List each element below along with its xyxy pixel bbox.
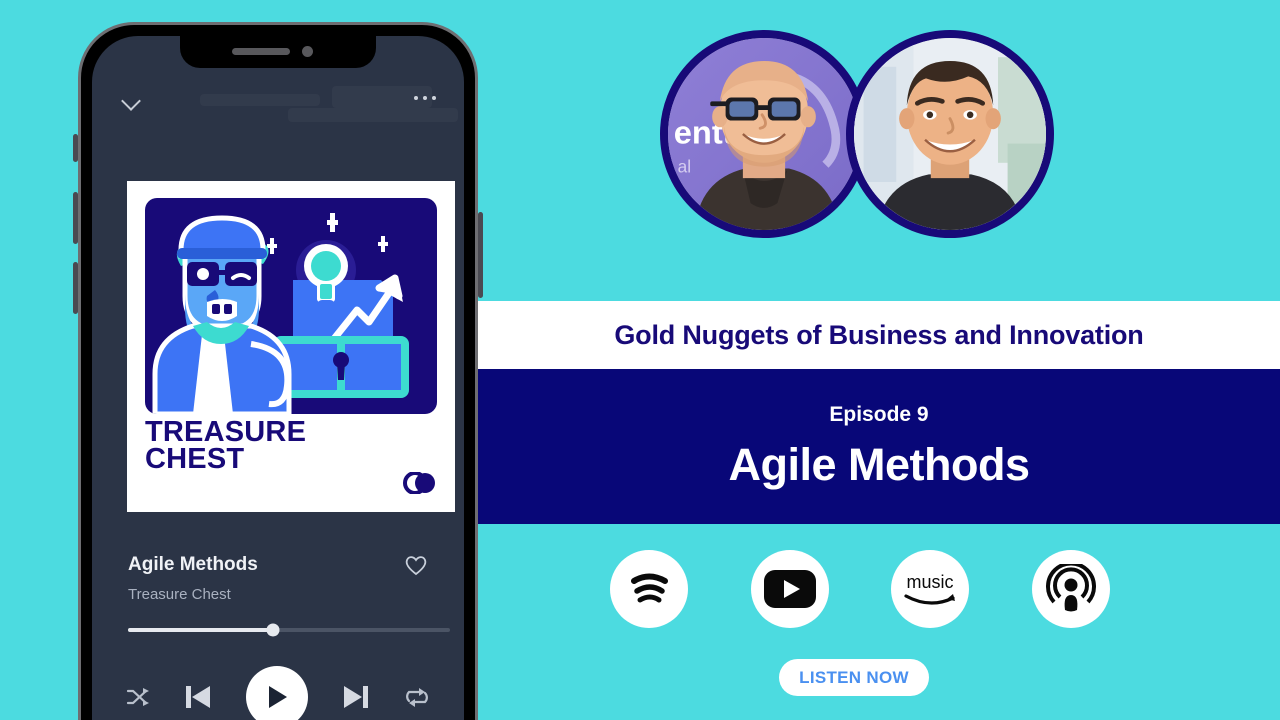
avatar bbox=[854, 38, 1046, 230]
progress-bar[interactable] bbox=[128, 628, 450, 632]
shuffle-icon[interactable] bbox=[126, 686, 150, 708]
episode-title: Agile Methods bbox=[728, 439, 1029, 491]
treasure-chest bbox=[273, 336, 409, 398]
podcast-episode-promo: TREASURE CHEST Agile Methods Treasure Ch… bbox=[0, 0, 1280, 720]
spotify-link[interactable] bbox=[610, 550, 688, 628]
phone-body: TREASURE CHEST Agile Methods Treasure Ch… bbox=[78, 22, 478, 720]
episode-number: Episode 9 bbox=[829, 403, 928, 427]
phone-screen: TREASURE CHEST Agile Methods Treasure Ch… bbox=[92, 36, 464, 720]
host-left-avatar: entt al bbox=[660, 30, 868, 238]
track-title: Agile Methods bbox=[128, 554, 258, 576]
spotify-icon bbox=[625, 565, 673, 613]
play-icon bbox=[265, 684, 289, 710]
track-subtitle: Treasure Chest bbox=[128, 586, 231, 603]
host-avatars: entt al bbox=[660, 30, 1054, 262]
repeat-icon[interactable] bbox=[404, 685, 430, 709]
artwork-caption-line1: TREASURE bbox=[145, 419, 306, 446]
player-controls bbox=[92, 666, 464, 720]
heart-icon[interactable] bbox=[404, 554, 428, 576]
amazon-music-icon: music bbox=[900, 568, 960, 610]
artwork-illustration bbox=[145, 198, 437, 414]
apple-podcasts-icon bbox=[1046, 564, 1096, 614]
amazon-music-link[interactable]: music bbox=[891, 550, 969, 628]
episode-banner: Episode 9 Agile Methods bbox=[478, 369, 1280, 524]
show-title-banner: Gold Nuggets of Business and Innovation bbox=[478, 301, 1280, 369]
youtube-icon bbox=[764, 570, 816, 608]
album-artwork[interactable]: TREASURE CHEST bbox=[127, 181, 455, 512]
listen-now-button[interactable]: LISTEN NOW bbox=[779, 659, 929, 696]
kebab-menu-icon[interactable] bbox=[414, 96, 436, 100]
front-camera bbox=[302, 46, 313, 57]
phone-notch bbox=[180, 36, 376, 68]
show-title: Gold Nuggets of Business and Innovation bbox=[614, 320, 1143, 351]
skip-previous-icon[interactable] bbox=[183, 683, 213, 711]
play-button[interactable] bbox=[246, 666, 308, 720]
avatar: entt al bbox=[668, 38, 860, 230]
progress-fill bbox=[128, 628, 273, 632]
skip-next-icon[interactable] bbox=[341, 683, 371, 711]
chevron-down-icon[interactable] bbox=[124, 94, 141, 103]
earpiece-speaker bbox=[232, 48, 290, 55]
artwork-caption: TREASURE CHEST bbox=[145, 419, 306, 474]
svg-text:al: al bbox=[678, 156, 691, 176]
host-right-avatar bbox=[846, 30, 1054, 238]
header-placeholder-bar bbox=[288, 108, 458, 122]
progress-knob[interactable] bbox=[266, 624, 279, 637]
treasure-chest-illustration bbox=[145, 198, 437, 414]
phone-power-button[interactable] bbox=[478, 212, 483, 298]
apple-podcasts-link[interactable] bbox=[1032, 550, 1110, 628]
platform-links: music bbox=[600, 548, 1120, 630]
phone-mockup: TREASURE CHEST Agile Methods Treasure Ch… bbox=[78, 22, 478, 720]
header-placeholder-bar bbox=[200, 94, 320, 106]
amazon-music-label: music bbox=[907, 572, 954, 592]
artwork-caption-line2: CHEST bbox=[145, 446, 306, 473]
player-header bbox=[92, 72, 464, 130]
overlapping-circles-logo bbox=[403, 472, 437, 494]
youtube-link[interactable] bbox=[751, 550, 829, 628]
